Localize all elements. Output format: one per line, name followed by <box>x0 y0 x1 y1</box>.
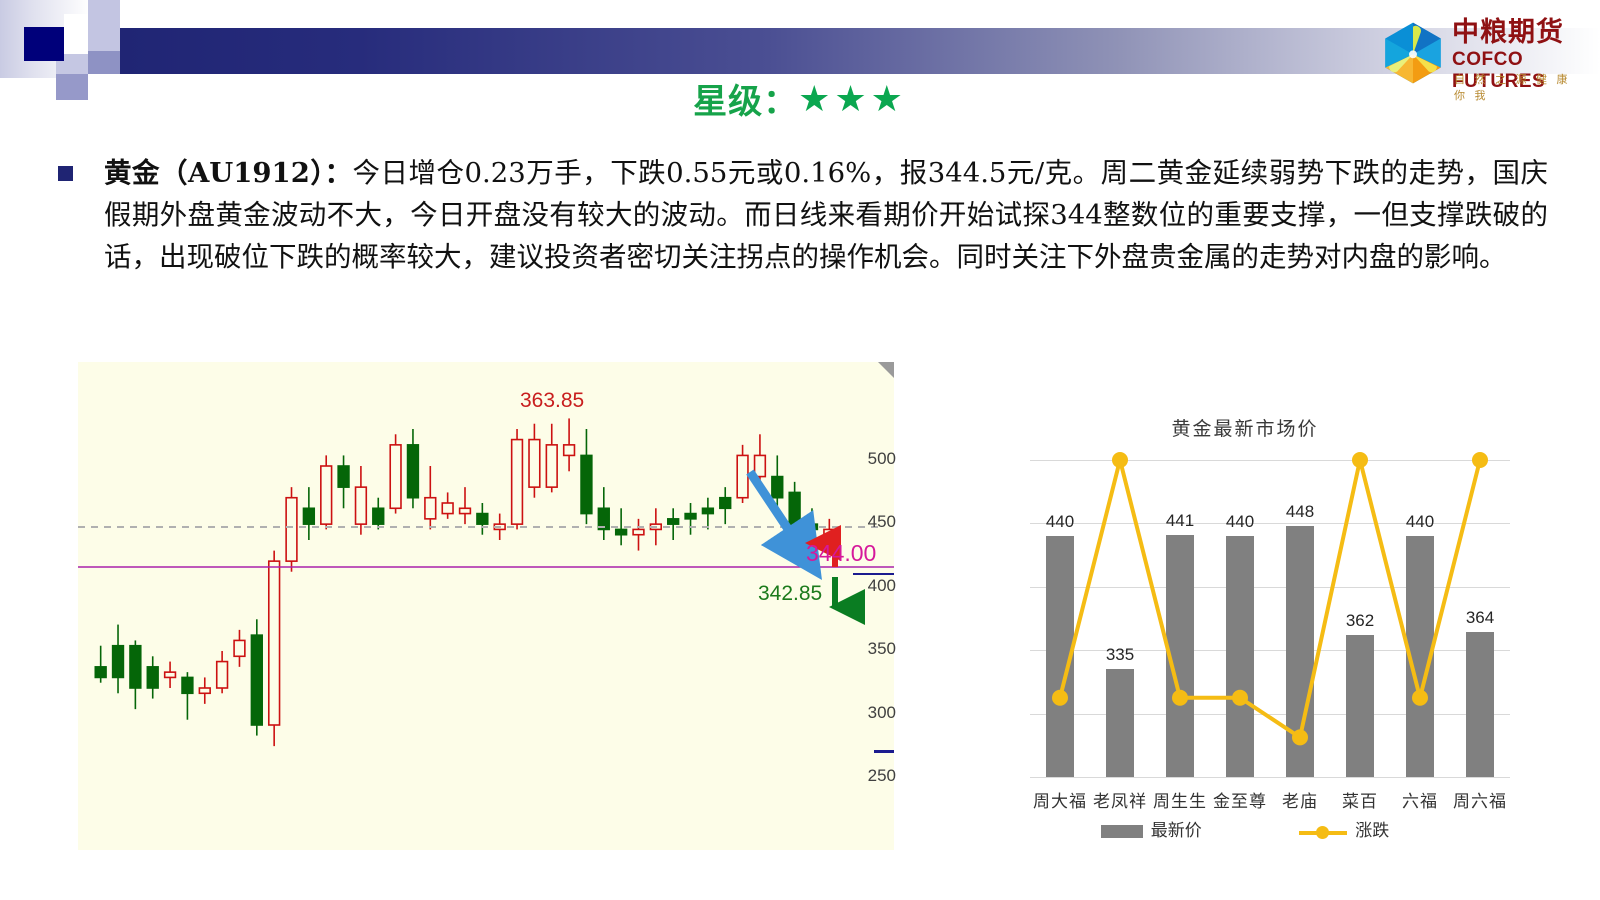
candle <box>477 514 488 525</box>
candle <box>442 503 453 514</box>
bullet-square-icon <box>58 166 73 181</box>
legend-bar-swatch <box>1101 825 1143 838</box>
line-marker <box>1172 690 1188 706</box>
banner-square-2 <box>88 28 120 51</box>
candle <box>269 561 280 725</box>
candle <box>737 455 748 497</box>
candle <box>390 445 401 508</box>
banner-navy-square <box>24 27 64 61</box>
candle <box>303 508 314 524</box>
bar-chart-title: 黄金最新市场价 <box>900 414 1590 441</box>
line-marker <box>1112 452 1128 468</box>
candle <box>703 508 714 513</box>
star-rating-label: 星级： <box>693 74 798 123</box>
candle <box>338 466 349 487</box>
legend-line-swatch <box>1299 826 1347 838</box>
candle <box>321 466 332 524</box>
kchart-axis-tick-mark <box>874 750 894 753</box>
candle <box>165 672 176 677</box>
candle <box>234 640 245 656</box>
kchart-price-label: 344.00 <box>806 540 876 567</box>
candle <box>581 455 592 513</box>
candle <box>772 477 783 498</box>
candlestick-chart[interactable]: 363.85 342.85 344.00 <box>78 362 894 850</box>
star-rating: 星级：★★★ <box>0 74 1600 123</box>
candle <box>286 498 297 561</box>
change-line-series <box>1030 460 1510 777</box>
y-axis-tick: 500 <box>836 449 896 469</box>
kchart-high-label: 363.85 <box>520 389 584 413</box>
banner-square-1 <box>88 0 120 28</box>
kchart-low-label: 342.85 <box>758 582 822 606</box>
y-axis-tick: 350 <box>836 639 896 659</box>
candle <box>529 440 540 488</box>
commentary-block: 黄金（AU1912）：今日增仓0.23万手，下跌0.55元或0.16%，报344… <box>58 152 1548 278</box>
star-icons: ★★★ <box>798 78 907 120</box>
line-marker <box>1292 729 1308 745</box>
line-marker <box>1472 452 1488 468</box>
legend-bar-label: 最新价 <box>1151 821 1202 841</box>
legend-line-label: 涨跌 <box>1355 821 1389 841</box>
line-marker <box>1352 452 1368 468</box>
y-axis-tick: 400 <box>836 576 896 596</box>
y-axis-tick: 450 <box>836 512 896 532</box>
candle <box>251 635 262 725</box>
candle <box>512 440 523 525</box>
candle <box>616 529 627 534</box>
candle <box>130 646 141 688</box>
candle <box>356 487 367 524</box>
candle <box>113 646 124 678</box>
candle <box>564 445 575 456</box>
market-price-chart[interactable]: 黄金最新市场价 5004504003503002500−1−2−3−4−5−6−… <box>900 398 1590 858</box>
candle <box>147 667 158 688</box>
candle <box>720 498 731 509</box>
candle <box>546 445 557 487</box>
candle <box>373 508 384 524</box>
candle <box>633 529 644 534</box>
kchart-corner-marker <box>878 362 894 378</box>
y-axis-tick: 250 <box>836 766 896 786</box>
candle <box>460 508 471 513</box>
bar-chart-legend: 最新价 涨跌 <box>900 816 1590 841</box>
y-axis-tick: 300 <box>836 703 896 723</box>
bar-chart-plot: 5004504003503002500−1−2−3−4−5−6−7−8440周大… <box>1030 460 1510 777</box>
candle <box>824 529 835 534</box>
candle <box>789 492 800 524</box>
legend-item-line[interactable]: 涨跌 <box>1299 816 1389 841</box>
line-marker <box>1412 690 1428 706</box>
candle <box>408 445 419 498</box>
banner-white-gap <box>64 14 88 54</box>
candlestick-plot <box>78 362 894 850</box>
banner-square-3 <box>88 51 120 74</box>
line-marker <box>1232 690 1248 706</box>
candle <box>182 677 193 693</box>
legend-item-bar[interactable]: 最新价 <box>1101 816 1202 841</box>
candle <box>217 662 228 688</box>
commentary-paragraph: 黄金（AU1912）：今日增仓0.23万手，下跌0.55元或0.16%，报344… <box>104 152 1548 278</box>
gridline <box>1030 777 1510 778</box>
candle <box>199 688 210 693</box>
logo-chinese-name: 中粮期货 <box>1452 18 1564 48</box>
candle <box>668 519 679 524</box>
x-axis-label: 周六福 <box>1440 787 1520 812</box>
candle <box>685 514 696 519</box>
line-marker <box>1052 690 1068 706</box>
candle <box>95 667 106 678</box>
candle <box>425 498 436 519</box>
commentary-lead: 黄金（AU1912）： <box>104 157 353 189</box>
